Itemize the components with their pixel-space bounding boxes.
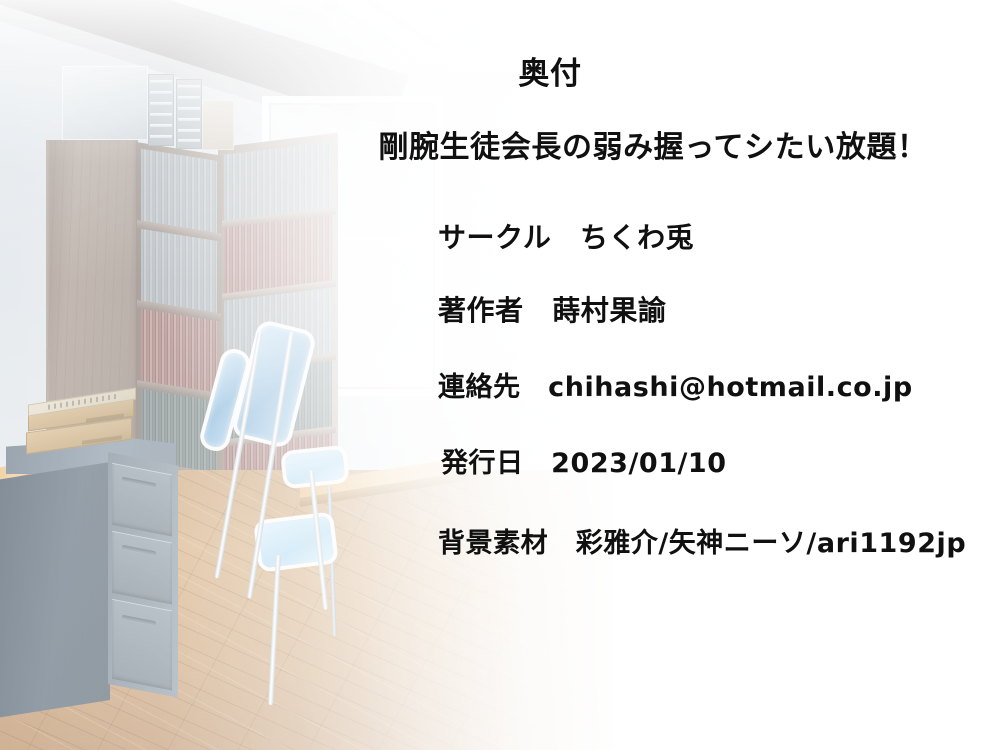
- credit-contact: 連絡先 chihashi@hotmail.co.jp: [438, 365, 913, 404]
- page-heading: 奥付: [0, 48, 1000, 93]
- credit-circle: サークル ちくわ兎: [438, 216, 694, 256]
- credit-background-assets: 背景素材 彩雅介/矢神ニーソ/ari1192jp: [438, 521, 966, 560]
- work-title: 剛腕生徒会長の弱み握ってシたい放題！: [0, 122, 1000, 166]
- colophon-text: 奥付 剛腕生徒会長の弱み握ってシたい放題！ サークル ちくわ兎 著作者 蒔村果諭…: [0, 0, 1000, 750]
- colophon-page: 奥付 剛腕生徒会長の弱み握ってシたい放題！ サークル ちくわ兎 著作者 蒔村果諭…: [0, 0, 1000, 750]
- credit-publish-date: 発行日 2023/01/10: [441, 441, 727, 480]
- credit-author: 著作者 蒔村果諭: [438, 289, 666, 329]
